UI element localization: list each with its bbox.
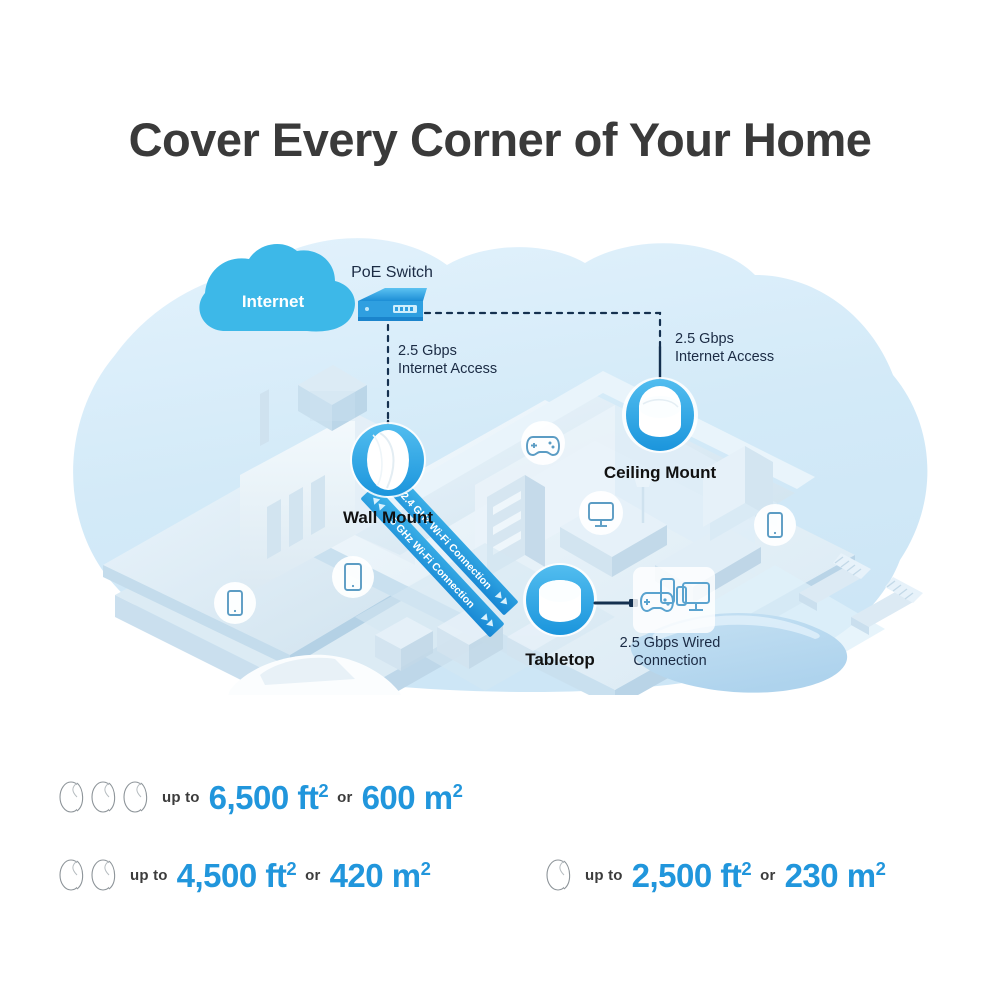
pod-outline-icon: [122, 778, 152, 816]
wired-line2: Connection: [633, 653, 706, 669]
internet-access-right-line2: Internet Access: [675, 349, 774, 365]
internet-access-right-line1: 2.5 Gbps: [675, 331, 734, 347]
internet-label: Internet: [242, 292, 305, 311]
imperial-coverage-value: 2,500 ft2: [632, 859, 752, 892]
pod-outline-icon: [90, 856, 120, 894]
page-title: Cover Every Corner of Your Home: [0, 112, 1000, 167]
imperial-coverage-value: 4,500 ft2: [177, 859, 297, 892]
or-label: or: [305, 867, 320, 884]
coverage-row-3-pack: up to 6,500 ft2 or 600 m2: [58, 778, 462, 816]
metric-coverage-value: 600 m2: [362, 781, 463, 814]
or-label: or: [337, 789, 352, 806]
up-to-label: up to: [162, 789, 200, 806]
or-label: or: [760, 867, 775, 884]
tabletop-label: Tabletop: [525, 650, 595, 669]
coverage-row-2-pack: up to 4,500 ft2 or 420 m2: [58, 856, 430, 894]
poe-switch-label: PoE Switch: [351, 264, 433, 281]
internet-access-left-line2: Internet Access: [398, 361, 497, 377]
pod-group: [58, 778, 152, 816]
up-to-label: up to: [130, 867, 168, 884]
imperial-coverage-value: 6,500 ft2: [209, 781, 329, 814]
internet-access-left-line1: 2.5 Gbps: [398, 343, 457, 359]
pod-outline-icon: [58, 856, 88, 894]
coverage-row-1-pack: up to 2,500 ft2 or 230 m2: [545, 856, 885, 894]
wired-line1: 2.5 Gbps Wired: [620, 635, 721, 651]
tabletop-node: Tabletop: [523, 563, 597, 669]
metric-coverage-value: 230 m2: [785, 859, 886, 892]
ceiling-mount-label: Ceiling Mount: [604, 463, 717, 482]
pod-outline-icon: [90, 778, 120, 816]
pod-group: [58, 856, 120, 894]
wall-mount-label: Wall Mount: [343, 508, 433, 527]
metric-coverage-value: 420 m2: [330, 859, 431, 892]
pod-outline-icon: [545, 856, 575, 894]
pod-outline-icon: [58, 778, 88, 816]
pod-group: [545, 856, 575, 894]
up-to-label: up to: [585, 867, 623, 884]
home-coverage-illustration: Internet PoE Switch 2.5 Gbps Internet Ac…: [55, 235, 945, 695]
page-root: Cover Every Corner of Your Home: [0, 0, 1000, 1000]
